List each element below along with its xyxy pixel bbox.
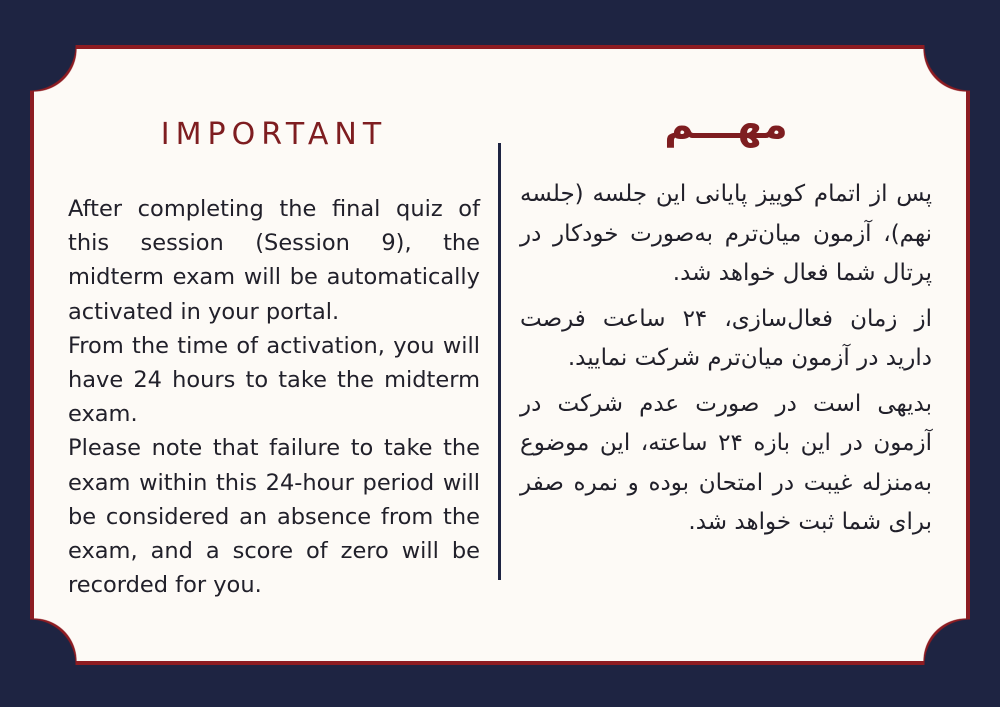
persian-column: مهـــم پس از اتمام کوییز پایانی این جلسه… [520, 45, 932, 665]
persian-body: پس از اتمام کوییز پایانی این جلسه (جلسه … [520, 145, 932, 543]
english-paragraph-1: After completing the final quiz of this … [68, 192, 480, 329]
persian-paragraph-1: پس از اتمام کوییز پایانی این جلسه (جلسه … [520, 175, 932, 294]
column-divider [498, 143, 501, 580]
english-column: IMPORTANT After completing the final qui… [68, 45, 480, 665]
card-content: IMPORTANT After completing the final qui… [30, 45, 970, 665]
persian-paragraph-3: بدیهی است در صورت عدم شرکت در آزمون در ا… [520, 385, 932, 543]
english-paragraph-3: Please note that failure to take the exa… [68, 431, 480, 602]
english-heading: IMPORTANT [68, 45, 480, 152]
notice-poster: IMPORTANT After completing the final qui… [0, 0, 1000, 707]
english-body: After completing the final quiz of this … [68, 152, 480, 602]
english-paragraph-2: From the time of activation, you will ha… [68, 329, 480, 432]
persian-heading: مهـــم [520, 45, 932, 145]
persian-paragraph-2: از زمان فعال‌سازی، ۲۴ ساعت فرصت دارید در… [520, 300, 932, 379]
